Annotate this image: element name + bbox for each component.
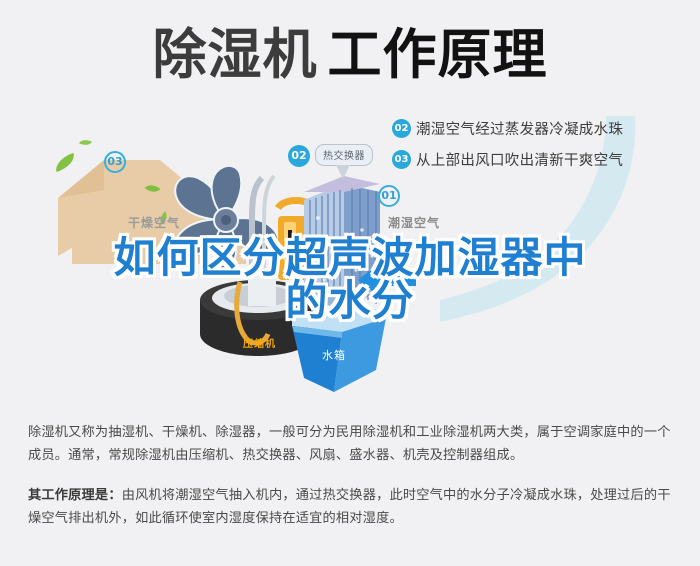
page-title-part-b: 工作原理 [328,23,548,86]
legend-badge-03: 03 [392,150,411,169]
diagram-badge-03: 03 [104,151,126,173]
body-paragraph-2: 其工作原理是：由风机将潮湿空气抽入机内，通过热交换器，此时空气中的水分子冷凝成水… [28,484,678,530]
article-page: 除湿机工作原理 [0,0,700,566]
label-water-tank: 水箱 [322,347,346,363]
body-paragraph-2-lead: 其工作原理是： [28,488,122,503]
label-compressor: 压缩机 [243,335,276,350]
diagram-badge-01: 01 [378,185,400,207]
dehumidifier-principle-illustration: 03 02 01 热交换器 干燥空气 潮湿空气 压缩机 水箱 02 潮湿空气经过… [0,118,700,408]
page-title: 除湿机工作原理 [0,28,700,82]
legend-text-02: 潮湿空气经过蒸发器冷凝成水珠 [416,118,623,139]
legend-badge-02: 02 [392,119,411,138]
body-paragraph-2-rest: 由风机将潮湿空气抽入机内，通过热交换器，此时空气中的水分子冷凝成水珠，处理过后的… [28,488,671,526]
body-paragraph-1: 除湿机又称为抽湿机、干燥机、除湿器，一般可分为民用除湿机和工业除湿机两大类，属于… [28,421,678,467]
legend-item: 02 潮湿空气经过蒸发器冷凝成水珠 [392,118,623,139]
humid-air-flow-swoosh [430,116,660,326]
label-dry-air: 干燥空气 [128,214,180,231]
legend-item: 03 从上部出风口吹出清新干爽空气 [392,149,623,170]
label-humid-air: 潮湿空气 [388,214,440,231]
airflow-inlet-arrow [358,266,418,294]
diagram-badge-02: 02 [288,145,310,167]
heat-exchanger-callout: 热交换器 [315,144,373,166]
page-title-part-a: 除湿机 [153,23,318,86]
legend-text-03: 从上部出风口吹出清新干爽空气 [416,149,623,170]
